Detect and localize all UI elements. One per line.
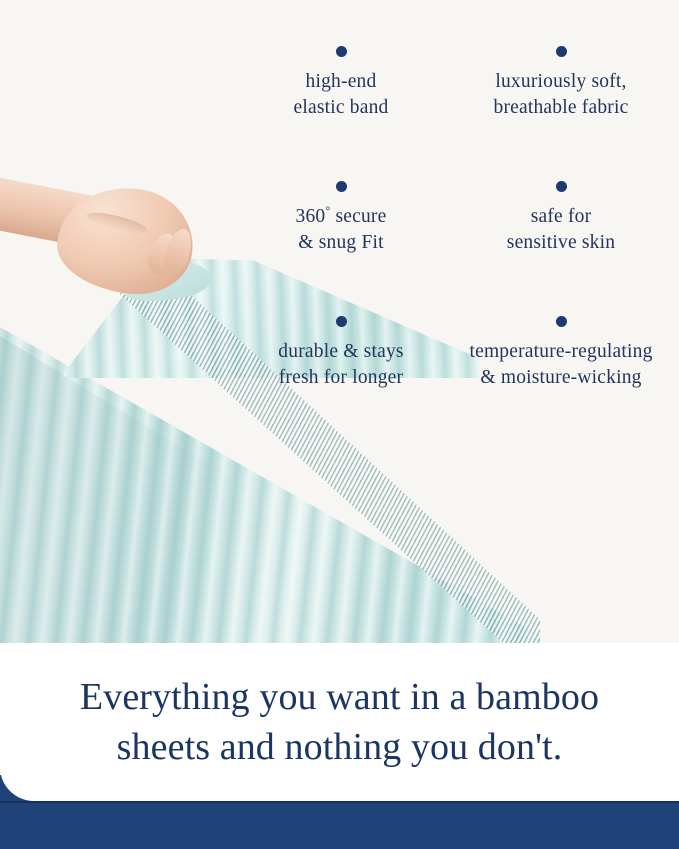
feature-item-luxuriously-soft: luxuriously soft, breathable fabric [456, 46, 666, 121]
feature-label: 360° secure & snug Fit [296, 204, 387, 256]
feature-label: luxuriously soft, breathable fabric [494, 69, 629, 121]
feature-label: durable & stays fresh for longer [278, 339, 403, 391]
bullet-dot-icon [556, 46, 567, 57]
headline-text: Everything you want in a bamboo sheets a… [68, 672, 611, 772]
feature-item-temperature-regulating: temperature-regulating & moisture-wickin… [456, 316, 666, 391]
bullet-dot-icon [556, 181, 567, 192]
headline-panel: Everything you want in a bamboo sheets a… [0, 643, 679, 801]
feature-label: temperature-regulating & moisture-wickin… [469, 339, 652, 391]
bullet-dot-icon [336, 46, 347, 57]
feature-item-360-secure-snug-fit: 360° secure & snug Fit [236, 181, 446, 256]
bullet-dot-icon [336, 316, 347, 327]
bullet-dot-icon [336, 181, 347, 192]
feature-list: high-end elastic band luxuriously soft, … [236, 46, 666, 391]
feature-item-high-end-elastic-band: high-end elastic band [236, 46, 446, 121]
feature-label-prefix: 360 [296, 206, 326, 227]
footer-bar [0, 801, 679, 849]
bullet-dot-icon [556, 316, 567, 327]
feature-label: safe for sensitive skin [507, 204, 615, 256]
feature-label: high-end elastic band [294, 69, 389, 121]
feature-item-durable-stays-fresh: durable & stays fresh for longer [236, 316, 446, 391]
product-feature-graphic: high-end elastic band luxuriously soft, … [0, 0, 679, 849]
feature-item-safe-for-sensitive-skin: safe for sensitive skin [456, 181, 666, 256]
